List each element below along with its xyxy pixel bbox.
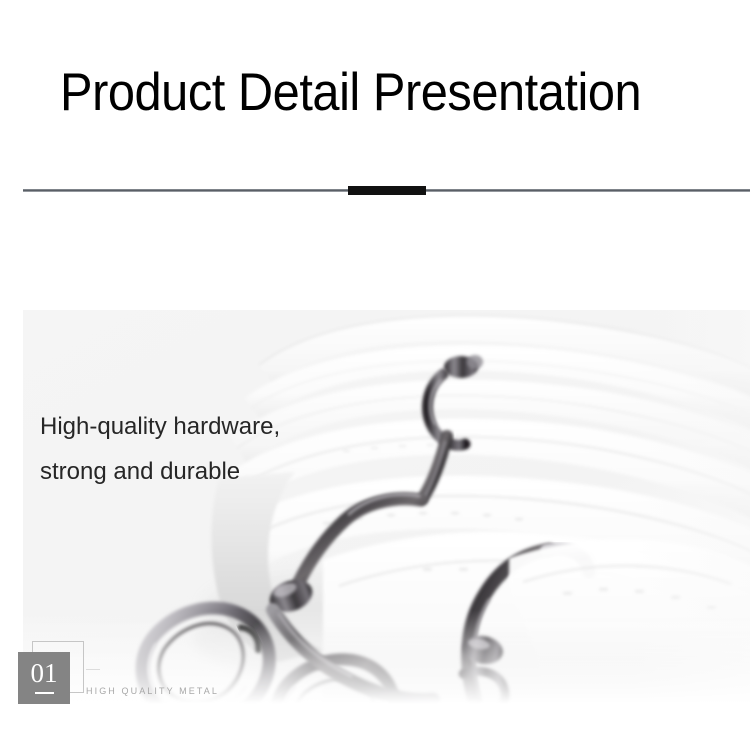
header: Product Detail Presentation: [0, 0, 750, 190]
badge-tick-mark: [86, 669, 100, 670]
page-title: Product Detail Presentation: [60, 62, 641, 124]
badge-label: HIGH QUALITY METAL: [86, 685, 219, 697]
badge-underline-dash: [35, 692, 54, 694]
product-caption: High-quality hardware, strong and durabl…: [40, 404, 340, 494]
caption-line-2: strong and durable: [40, 449, 340, 494]
badge-number: 01: [18, 657, 70, 689]
section-divider: [23, 186, 750, 196]
badge-number-square: 01: [18, 652, 70, 704]
feature-badge: 01 HIGH QUALITY METAL: [14, 641, 234, 711]
caption-line-1: High-quality hardware,: [40, 404, 340, 449]
divider-accent-bar: [348, 186, 426, 195]
